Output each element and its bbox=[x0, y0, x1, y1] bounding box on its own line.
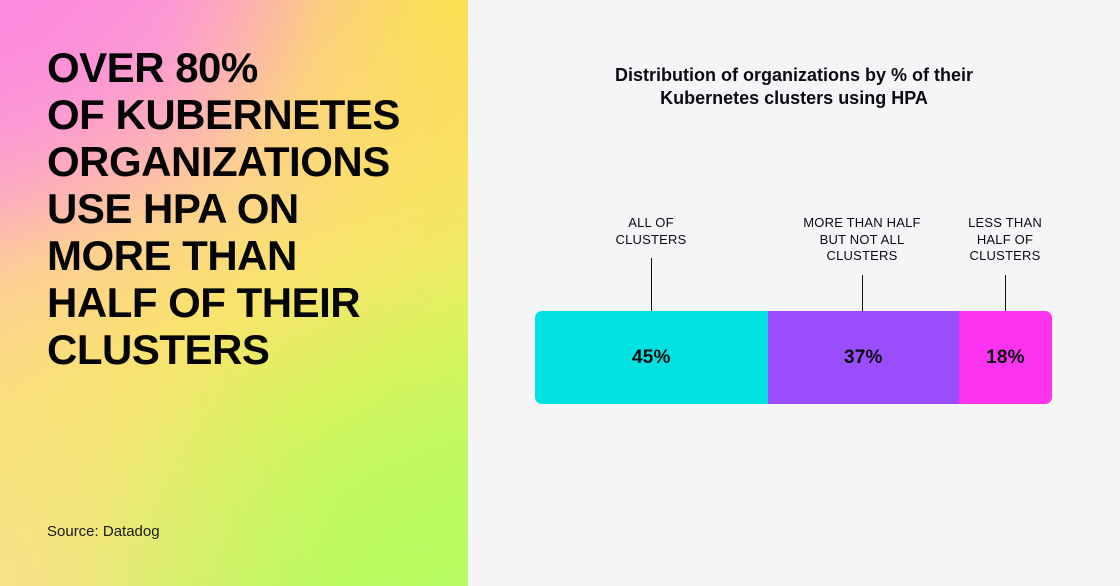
segment-label-all-of-clusters: ALL OF CLUSTERS bbox=[591, 215, 711, 248]
page-title: OVER 80% OF KUBERNETES ORGANIZATIONS USE… bbox=[47, 44, 447, 373]
leader-line-2 bbox=[862, 275, 863, 311]
leader-line-3 bbox=[1005, 275, 1006, 311]
infographic-canvas: OVER 80% OF KUBERNETES ORGANIZATIONS USE… bbox=[0, 0, 1120, 586]
bar-segment-value: 45% bbox=[632, 347, 671, 369]
stacked-bar: 45% 37% 18% bbox=[535, 311, 1052, 404]
segment-label-less-than-half: LESS THAN HALF OF CLUSTERS bbox=[945, 215, 1065, 265]
bar-segment-value: 37% bbox=[844, 347, 883, 369]
chart-panel: Distribution of organizations by % of th… bbox=[468, 0, 1120, 586]
bar-segment-more-than-half[interactable]: 37% bbox=[768, 311, 959, 404]
bar-segment-value: 18% bbox=[986, 347, 1025, 369]
bar-segment-all-of-clusters[interactable]: 45% bbox=[535, 311, 768, 404]
leader-line-1 bbox=[651, 258, 652, 311]
headline-panel: OVER 80% OF KUBERNETES ORGANIZATIONS USE… bbox=[0, 0, 468, 586]
segment-label-more-than-half: MORE THAN HALF BUT NOT ALL CLUSTERS bbox=[792, 215, 932, 265]
stacked-bar-chart: ALL OF CLUSTERS MORE THAN HALF BUT NOT A… bbox=[468, 0, 1120, 586]
bar-segment-less-than-half[interactable]: 18% bbox=[959, 311, 1052, 404]
source-attribution: Source: Datadog bbox=[47, 522, 160, 542]
